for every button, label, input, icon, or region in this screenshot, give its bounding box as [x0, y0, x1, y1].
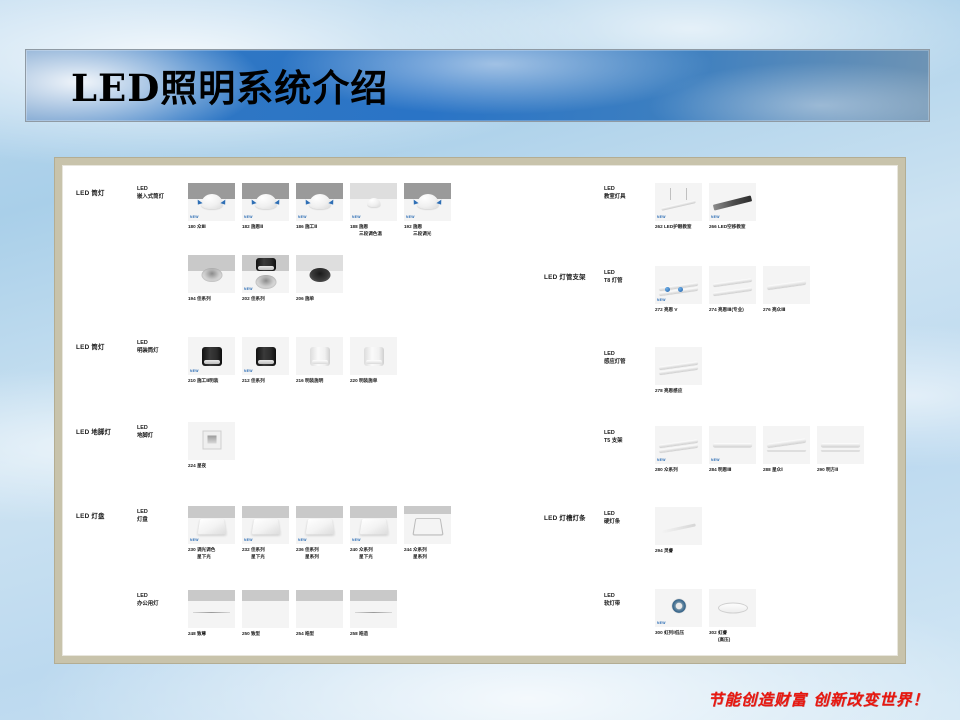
product-name-line2: 星系列: [404, 554, 451, 561]
product-name: 明装施单: [359, 378, 377, 383]
product-caption: 230 调光调色 星下光: [188, 547, 235, 561]
product-tile[interactable]: 220 明装施单: [350, 337, 397, 385]
product-name: 皓造: [359, 631, 368, 636]
product-caption: 300 虹列Ⅰ低压: [655, 630, 702, 637]
new-badge: NEW: [190, 369, 199, 373]
product-code: 180: [188, 224, 196, 229]
product-name: 佳系列: [305, 547, 319, 552]
product-code: 284: [709, 467, 717, 472]
product-name: 众系列: [664, 467, 678, 472]
sub-category-label: LED 明装筒灯: [137, 340, 159, 356]
sub-category-label: LED 灯盘: [137, 509, 148, 525]
product-tile[interactable]: 206 施单: [296, 255, 343, 303]
product-thumbnail: NEW: [242, 337, 289, 375]
product-name: 星众Ⅰ: [772, 467, 783, 472]
product-caption: 188 施恩 三段调色温: [350, 224, 397, 238]
sub-category-line1: LED: [604, 351, 626, 359]
product-tile[interactable]: 224 星夜: [188, 422, 235, 470]
main-category-label: LED 筒灯: [76, 188, 105, 197]
product-caption: 202 佳系列: [242, 296, 289, 303]
product-name-line2: 星下光: [188, 554, 235, 561]
new-badge: NEW: [352, 538, 361, 542]
product-code: 194: [188, 296, 196, 301]
new-badge: NEW: [244, 287, 253, 291]
product-caption: 240 众系列 星下光: [350, 547, 397, 561]
product-caption: 258 皓造: [350, 631, 397, 638]
product-tile-group: NEW 272 亮恩 V 274 亮恩Ⅲ(专业): [655, 266, 810, 314]
sub-category-line2: 感应灯管: [604, 359, 626, 367]
product-tile[interactable]: 294 灵睿: [655, 507, 702, 555]
product-thumbnail: NEW: [188, 183, 235, 221]
product-caption: 212 佳系列: [242, 378, 289, 385]
product-thumbnail: [296, 337, 343, 375]
product-tile[interactable]: NEW 272 亮恩 V: [655, 266, 702, 314]
sub-category-line1: LED: [604, 270, 623, 278]
product-tile[interactable]: 216 明装施明: [296, 337, 343, 385]
sub-category-line1: LED: [137, 425, 153, 433]
product-caption: 248 致尊: [188, 631, 235, 638]
product-thumbnail: NEW: [709, 183, 756, 221]
product-caption: 272 亮恩 V: [655, 307, 702, 314]
sub-category-line2: 明装筒灯: [137, 348, 159, 356]
sub-category-label: LED 软灯带: [604, 593, 620, 609]
product-name: 星夜: [197, 463, 206, 468]
product-code: 240: [350, 547, 358, 552]
product-caption: 302 虹睿 (高压): [709, 630, 756, 644]
main-category-label: LED 灯盘: [76, 511, 105, 520]
sub-category-line2: 嵌入式筒灯: [137, 194, 164, 202]
product-thumbnail: NEW: [655, 266, 702, 304]
product-caption: 186 施工Ⅱ: [296, 224, 343, 231]
product-thumbnail: [655, 507, 702, 545]
product-tile[interactable]: NEW 262 LED护眼教室: [655, 183, 702, 231]
product-tile-group: NEW 210 施工Ⅱ明装 NEW 212 佳系列: [188, 337, 397, 385]
new-badge: NEW: [244, 369, 253, 373]
product-code: 206: [296, 296, 304, 301]
product-tile[interactable]: NEW 300 虹列Ⅰ低压: [655, 589, 702, 644]
catalog-right-column: LED 教室灯具 NEW 262 LED护眼教室: [532, 165, 898, 656]
new-badge: NEW: [657, 621, 666, 625]
catalog-sheet: LED 筒灯 LED 嵌入式筒灯 NEW 180 众Ⅲ: [62, 165, 898, 656]
product-thumbnail: [242, 590, 289, 628]
sub-category-line2: T5 支架: [604, 438, 623, 446]
product-thumbnail: [296, 590, 343, 628]
product-name-line2: (高压): [709, 637, 756, 644]
product-tile[interactable]: 302 虹睿 (高压): [709, 589, 756, 644]
product-tile-group: NEW 180 众Ⅲ NEW 182 施恩Ⅱ: [188, 183, 451, 238]
product-name: 虹列Ⅰ低压: [664, 630, 684, 635]
product-tile[interactable]: NEW 240 众系列 星下光: [350, 506, 397, 561]
new-badge: NEW: [657, 298, 666, 302]
product-name: 施恩: [359, 224, 368, 229]
product-tile[interactable]: NEW 280 众系列: [655, 426, 702, 474]
product-tile[interactable]: NEW 266 LED空移教室: [709, 183, 756, 231]
product-name: 亮恩Ⅲ(专业): [718, 307, 744, 312]
product-thumbnail: [763, 426, 810, 464]
product-code: 288: [763, 467, 771, 472]
catalog-left-column: LED 筒灯 LED 嵌入式筒灯 NEW 180 众Ⅲ: [62, 165, 532, 656]
product-code: 300: [655, 630, 663, 635]
sub-category-line1: LED: [604, 186, 626, 194]
product-code: 258: [350, 631, 358, 636]
product-thumbnail: NEW: [350, 506, 397, 544]
sub-category-line1: LED: [137, 186, 164, 194]
product-name: 佳系列: [251, 378, 265, 383]
product-tile[interactable]: NEW 212 佳系列: [242, 337, 289, 385]
sub-category-label: LED T8 灯管: [604, 270, 623, 286]
product-thumbnail: [655, 347, 702, 385]
product-thumbnail: NEW: [296, 183, 343, 221]
product-tile[interactable]: NEW 180 众Ⅲ: [188, 183, 235, 238]
product-code: 244: [404, 547, 412, 552]
product-code: 302: [709, 630, 717, 635]
sub-category-line1: LED: [137, 340, 159, 348]
product-caption: 262 LED护眼教室: [655, 224, 702, 231]
product-code: 230: [188, 547, 196, 552]
product-tile-group: 224 星夜: [188, 422, 235, 470]
product-name: 众系列: [413, 547, 427, 552]
new-badge: NEW: [298, 215, 307, 219]
product-name: 佳系列: [251, 296, 265, 301]
product-thumbnail: [188, 255, 235, 293]
product-caption: 224 星夜: [188, 463, 235, 470]
product-caption: 210 施工Ⅱ明装: [188, 378, 235, 385]
product-tile-group: NEW 300 虹列Ⅰ低压 302 虹睿 (高压): [655, 589, 756, 644]
new-badge: NEW: [406, 215, 415, 219]
product-thumbnail: NEW: [655, 589, 702, 627]
product-code: 188: [350, 224, 358, 229]
product-caption: 294 灵睿: [655, 548, 702, 555]
product-name-line2: 星系列: [296, 554, 343, 561]
product-name: 佳系列: [197, 296, 211, 301]
sub-category-label: LED 嵌入式筒灯: [137, 186, 164, 202]
new-badge: NEW: [190, 215, 199, 219]
product-code: 276: [763, 307, 771, 312]
product-tile[interactable]: 244 众系列 星系列: [404, 506, 451, 561]
product-tile[interactable]: 254 皓型: [296, 590, 343, 638]
product-name-line2: 三段调色温: [350, 231, 397, 238]
product-name: 虹睿: [718, 630, 727, 635]
product-tile[interactable]: NEW 186 施工Ⅱ: [296, 183, 343, 238]
product-code: 224: [188, 463, 196, 468]
product-thumbnail: NEW: [350, 183, 397, 221]
new-badge: NEW: [244, 215, 253, 219]
product-caption: 274 亮恩Ⅲ(专业): [709, 307, 756, 314]
new-badge: NEW: [711, 215, 720, 219]
product-code: 294: [655, 548, 663, 553]
sub-category-line1: LED: [137, 509, 148, 517]
product-thumbnail: NEW: [188, 337, 235, 375]
product-tile-group: 194 佳系列 NEW 202 佳系列: [188, 255, 343, 303]
new-badge: NEW: [244, 538, 253, 542]
sub-category-line2: 硬灯条: [604, 519, 620, 527]
sub-category-line1: LED: [604, 593, 620, 601]
product-code: 274: [709, 307, 717, 312]
product-tile[interactable]: 248 致尊: [188, 590, 235, 638]
product-code: 266: [709, 224, 717, 229]
product-name: 施恩Ⅱ: [251, 224, 263, 229]
product-name: 灵睿: [664, 548, 673, 553]
product-caption: 192 施恩 三段调光: [404, 224, 451, 238]
product-code: 232: [242, 547, 250, 552]
product-tile-group: NEW 262 LED护眼教室 NEW 266 LED空移教: [655, 183, 756, 231]
product-caption: 220 明装施单: [350, 378, 397, 385]
product-name-line2: 星下光: [242, 554, 289, 561]
product-thumbnail: [188, 422, 235, 460]
product-caption: 278 亮恩感应: [655, 388, 702, 395]
product-name: 亮恩感应: [664, 388, 682, 393]
product-thumbnail: NEW: [242, 506, 289, 544]
product-caption: 280 众系列: [655, 467, 702, 474]
product-thumbnail: NEW: [242, 183, 289, 221]
catalog-frame: LED 筒灯 LED 嵌入式筒灯 NEW 180 众Ⅲ: [54, 157, 906, 664]
product-tile-group: 248 致尊 250 致型: [188, 590, 397, 638]
page-title: LED照明系统介绍: [71, 57, 388, 111]
product-thumbnail: [817, 426, 864, 464]
product-name: 调光调色: [197, 547, 215, 552]
sub-category-line1: LED: [604, 430, 623, 438]
product-name: 佳系列: [251, 547, 265, 552]
product-code: 278: [655, 388, 663, 393]
product-name-line2: 星下光: [350, 554, 397, 561]
product-name: 明方Ⅱ: [826, 467, 838, 472]
product-tile[interactable]: 288 星众Ⅰ: [763, 426, 810, 474]
product-name: 致型: [251, 631, 260, 636]
product-code: 280: [655, 467, 663, 472]
product-thumbnail: NEW: [296, 506, 343, 544]
product-code: 210: [188, 378, 196, 383]
product-tile-group: NEW 280 众系列 NEW 284 明恩Ⅲ: [655, 426, 864, 474]
product-code: 250: [242, 631, 250, 636]
product-code: 248: [188, 631, 196, 636]
new-badge: NEW: [711, 458, 720, 462]
product-thumbnail: NEW: [655, 183, 702, 221]
product-tile-group: 278 亮恩感应: [655, 347, 702, 395]
product-thumbnail: [350, 590, 397, 628]
product-name: 施单: [305, 296, 314, 301]
product-tile[interactable]: 278 亮恩感应: [655, 347, 702, 395]
product-thumbnail: NEW: [655, 426, 702, 464]
product-code: 220: [350, 378, 358, 383]
main-category-label: LED 筒灯: [76, 342, 105, 351]
sub-category-line1: LED: [604, 511, 620, 519]
product-caption: 216 明装施明: [296, 378, 343, 385]
sub-category-label: LED 感应灯管: [604, 351, 626, 367]
product-name: 施工Ⅱ: [305, 224, 317, 229]
product-thumbnail: NEW: [404, 183, 451, 221]
product-code: 202: [242, 296, 250, 301]
product-caption: 266 LED空移教室: [709, 224, 756, 231]
product-thumbnail: [404, 506, 451, 544]
new-badge: NEW: [657, 458, 666, 462]
product-name: 亮众Ⅲ: [772, 307, 786, 312]
product-caption: 290 明方Ⅱ: [817, 467, 864, 474]
product-tile[interactable]: NEW 188 施恩 三段调色温: [350, 183, 397, 238]
product-caption: 250 致型: [242, 631, 289, 638]
product-thumbnail: [763, 266, 810, 304]
product-caption: 288 星众Ⅰ: [763, 467, 810, 474]
title-banner: LED照明系统介绍: [25, 49, 930, 122]
product-tile[interactable]: 258 皓造: [350, 590, 397, 638]
main-category-label: LED 地脚灯: [76, 427, 111, 436]
product-code: 186: [296, 224, 304, 229]
product-tile[interactable]: NEW 230 调光调色 星下光: [188, 506, 235, 561]
product-thumbnail: [296, 255, 343, 293]
product-code: 290: [817, 467, 825, 472]
product-code: 262: [655, 224, 663, 229]
sub-category-line2: 软灯带: [604, 601, 620, 609]
product-name: 明恩Ⅲ: [718, 467, 732, 472]
product-name: LED空移教室: [718, 224, 746, 229]
product-thumbnail: NEW: [709, 426, 756, 464]
product-thumbnail: [350, 337, 397, 375]
product-thumbnail: [709, 589, 756, 627]
sub-category-label: LED 办公用灯: [137, 593, 159, 609]
footer-slogan: 节能创造财富 创新改变世界！: [708, 688, 929, 710]
product-code: 236: [296, 547, 304, 552]
product-tile[interactable]: NEW 202 佳系列: [242, 255, 289, 303]
product-code: 216: [296, 378, 304, 383]
product-name-line2: 三段调光: [404, 231, 451, 238]
product-name: 众系列: [359, 547, 373, 552]
sub-category-label: LED 教室灯具: [604, 186, 626, 202]
product-caption: 182 施恩Ⅱ: [242, 224, 289, 231]
product-name: 施恩: [413, 224, 422, 229]
product-caption: 206 施单: [296, 296, 343, 303]
product-name: 致尊: [197, 631, 206, 636]
product-tile-group: NEW 230 调光调色 星下光 NEW 232: [188, 506, 451, 561]
main-category-label: LED 灯槽灯条: [544, 513, 586, 522]
product-thumbnail: [709, 266, 756, 304]
product-tile-group: 294 灵睿: [655, 507, 702, 555]
product-code: 272: [655, 307, 663, 312]
new-badge: NEW: [298, 538, 307, 542]
product-name: 皓型: [305, 631, 314, 636]
new-badge: NEW: [190, 538, 199, 542]
product-caption: 254 皓型: [296, 631, 343, 638]
product-tile[interactable]: NEW 182 施恩Ⅱ: [242, 183, 289, 238]
product-caption: 284 明恩Ⅲ: [709, 467, 756, 474]
product-caption: 180 众Ⅲ: [188, 224, 235, 231]
product-tile[interactable]: 276 亮众Ⅲ: [763, 266, 810, 314]
product-tile[interactable]: NEW 236 佳系列 星系列: [296, 506, 343, 561]
sub-category-line1: LED: [137, 593, 159, 601]
product-code: 212: [242, 378, 250, 383]
product-caption: 244 众系列 星系列: [404, 547, 451, 561]
product-tile[interactable]: 194 佳系列: [188, 255, 235, 303]
new-badge: NEW: [352, 215, 361, 219]
product-caption: 276 亮众Ⅲ: [763, 307, 810, 314]
new-badge: NEW: [657, 215, 666, 219]
product-name: LED护眼教室: [664, 224, 692, 229]
product-code: 254: [296, 631, 304, 636]
sub-category-line2: 办公用灯: [137, 601, 159, 609]
product-name: 明装施明: [305, 378, 323, 383]
sub-category-label: LED T5 支架: [604, 430, 623, 446]
product-tile[interactable]: 290 明方Ⅱ: [817, 426, 864, 474]
product-tile[interactable]: 250 致型: [242, 590, 289, 638]
sub-category-label: LED 硬灯条: [604, 511, 620, 527]
product-code: 192: [404, 224, 412, 229]
sub-category-line2: 地脚灯: [137, 433, 153, 441]
product-tile[interactable]: NEW 232 佳系列 星下光: [242, 506, 289, 561]
product-tile[interactable]: NEW 284 明恩Ⅲ: [709, 426, 756, 474]
product-caption: 194 佳系列: [188, 296, 235, 303]
sub-category-line2: T8 灯管: [604, 278, 623, 286]
product-caption: 236 佳系列 星系列: [296, 547, 343, 561]
product-caption: 232 佳系列 星下光: [242, 547, 289, 561]
product-code: 182: [242, 224, 250, 229]
product-name: 施工Ⅱ明装: [197, 378, 218, 383]
sub-category-line2: 灯盘: [137, 517, 148, 525]
product-tile[interactable]: 274 亮恩Ⅲ(专业): [709, 266, 756, 314]
product-tile[interactable]: NEW 210 施工Ⅱ明装: [188, 337, 235, 385]
product-name: 亮恩 V: [664, 307, 678, 312]
product-thumbnail: NEW: [242, 255, 289, 293]
main-category-label: LED 灯管支架: [544, 272, 586, 281]
product-thumbnail: [188, 590, 235, 628]
product-name: 众Ⅲ: [197, 224, 206, 229]
sub-category-label: LED 地脚灯: [137, 425, 153, 441]
product-thumbnail: NEW: [188, 506, 235, 544]
product-tile[interactable]: NEW 192 施恩 三段调光: [404, 183, 451, 238]
sub-category-line2: 教室灯具: [604, 194, 626, 202]
